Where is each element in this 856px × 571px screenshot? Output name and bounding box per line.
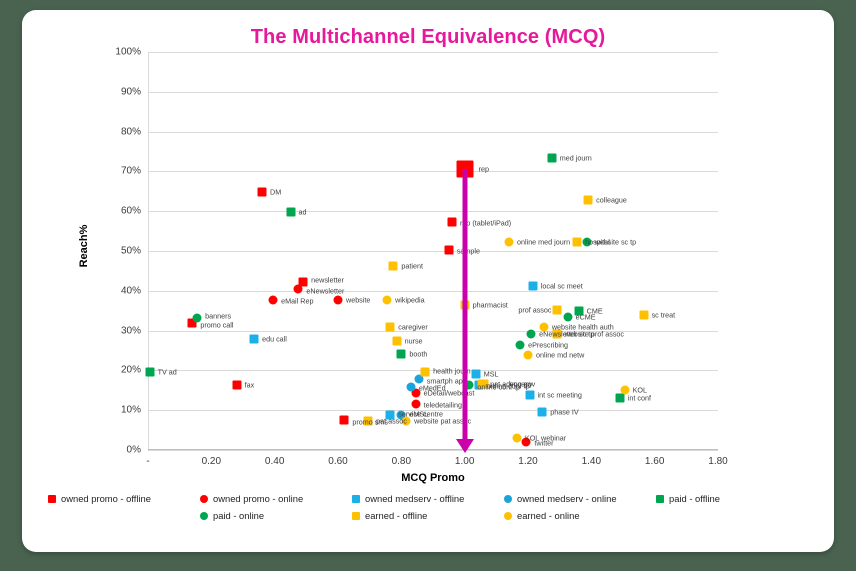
data-point-label: ad [299, 208, 307, 215]
y-axis-tick-label: 30% [121, 325, 141, 336]
legend-marker-icon [200, 512, 208, 520]
data-point[interactable] [411, 399, 420, 408]
gridline [148, 211, 718, 212]
data-point-label: booth [409, 350, 427, 357]
x-axis-tick-label: 1.60 [645, 456, 664, 467]
data-point[interactable] [525, 391, 534, 400]
plot-area: 0%10%20%30%40%50%60%70%80%90%100% -0.200… [148, 52, 718, 450]
data-point[interactable] [573, 238, 582, 247]
data-point-label: prof assoc [518, 306, 551, 313]
data-point-label: KOL [633, 386, 647, 393]
data-point-label: DM [270, 189, 281, 196]
gridline [148, 331, 718, 332]
legend-item[interactable]: owned medserv - offline [352, 493, 504, 504]
legend-item[interactable]: paid - online [200, 510, 352, 521]
data-point[interactable] [615, 393, 624, 402]
data-point-label: website [346, 296, 370, 303]
data-point-label: eng gov [510, 380, 536, 387]
data-point-label: TV ad [158, 369, 177, 376]
data-point[interactable] [294, 284, 303, 293]
data-point-label: eMail Rep [281, 297, 313, 304]
data-point-label: wikipedia [395, 296, 425, 303]
data-point-label: int conf [628, 394, 651, 401]
data-point[interactable] [471, 369, 480, 378]
data-point-label: med journ [560, 155, 592, 162]
data-point-label: eMedEd [419, 385, 446, 392]
data-point-label: promo call [200, 322, 233, 329]
data-point[interactable] [389, 262, 398, 271]
data-point-label: rep (tablet/iPad) [460, 220, 511, 227]
x-axis-tick-label: - [146, 456, 149, 467]
data-point[interactable] [386, 323, 395, 332]
data-point-label: banners [205, 312, 231, 319]
data-point-label: website health auth [552, 324, 614, 331]
data-point-label: int sc meeting [538, 391, 582, 398]
legend-item-label: owned medserv - online [517, 493, 617, 504]
legend-item-label: owned medserv - offline [365, 493, 464, 504]
legend-item-label: paid - online [213, 510, 264, 521]
y-axis-tick-label: 50% [121, 246, 141, 257]
y-axis-label: Reach% [78, 225, 90, 268]
data-point-label: fax [245, 382, 255, 389]
legend-item[interactable]: owned promo - offline [48, 493, 200, 504]
data-point-label: colleague [596, 196, 627, 203]
gridline [148, 92, 718, 93]
data-point-label: teledetailing [424, 401, 462, 408]
data-point[interactable] [145, 368, 154, 377]
data-point[interactable] [269, 295, 278, 304]
data-point[interactable] [392, 336, 401, 345]
data-point-label: caregiver [398, 324, 428, 331]
x-axis-tick-label: 1.80 [708, 456, 727, 467]
legend-item-label: earned - offline [365, 510, 427, 521]
data-point[interactable] [516, 341, 525, 350]
data-point[interactable] [232, 381, 241, 390]
data-point-label: online med journ [517, 239, 570, 246]
data-point[interactable] [538, 408, 547, 417]
gridline [148, 52, 718, 53]
legend-marker-icon [352, 495, 360, 503]
legend-marker-icon [504, 512, 512, 520]
x-axis-tick-label: 0.20 [202, 456, 221, 467]
legend-item-label: owned promo - online [213, 493, 303, 504]
y-axis-tick-label: 90% [121, 86, 141, 97]
x-axis-tick-label: 1.40 [582, 456, 601, 467]
gridline [148, 450, 718, 451]
data-point-label: MSL [484, 370, 499, 377]
x-axis-tick-label: 1.00 [455, 456, 474, 467]
y-axis-tick-label: 20% [121, 365, 141, 376]
data-point-label: patient [401, 263, 423, 270]
chart-legend: owned promo - offlineowned promo - onlin… [22, 490, 834, 524]
legend-item[interactable]: paid - offline [656, 493, 808, 504]
chart-card: The Multichannel Equivalence (MCQ) Reach… [22, 10, 834, 552]
legend-item-label: paid - offline [669, 493, 720, 504]
gridline [148, 132, 718, 133]
y-axis-tick-label: 60% [121, 206, 141, 217]
y-axis-tick-label: 100% [115, 47, 141, 58]
annotation-arrow-head [456, 439, 474, 453]
data-point[interactable] [527, 329, 536, 338]
data-point[interactable] [547, 154, 556, 163]
data-point[interactable] [258, 188, 267, 197]
x-axis-tick-label: 1.20 [518, 456, 537, 467]
legend-item[interactable]: earned - online [504, 510, 656, 521]
data-point[interactable] [340, 416, 349, 425]
data-point[interactable] [512, 433, 521, 442]
data-point-label: eNewsletter [306, 287, 344, 294]
data-point[interactable] [639, 311, 648, 320]
data-point[interactable] [406, 383, 415, 392]
x-axis-label: MCQ Promo [148, 472, 718, 484]
legend-item-label: owned promo - offline [61, 493, 151, 504]
legend-marker-icon [656, 495, 664, 503]
gridline [148, 251, 718, 252]
data-point-label: sc treat [652, 312, 676, 319]
legend-marker-icon [200, 495, 208, 503]
annotation-arrow-shaft [462, 169, 467, 440]
data-point-label: eCME [576, 314, 596, 321]
data-point-label: edu call [262, 335, 287, 342]
data-point[interactable] [552, 305, 561, 314]
legend-marker-icon [48, 495, 56, 503]
gridline [148, 171, 718, 172]
y-axis-tick-label: 10% [121, 405, 141, 416]
data-point-label: pharmacist [473, 301, 508, 308]
data-point-label: online md netw [536, 351, 584, 358]
legend-item-label: earned - online [517, 510, 580, 521]
data-point-label: ePrescribing [528, 342, 568, 349]
y-axis-tick-label: 0% [127, 445, 141, 456]
data-point[interactable] [524, 350, 533, 359]
data-point[interactable] [397, 349, 406, 358]
data-point[interactable] [383, 295, 392, 304]
y-axis-tick-label: 40% [121, 285, 141, 296]
data-point[interactable] [250, 334, 259, 343]
data-point[interactable] [528, 282, 537, 291]
page-title: The Multichannel Equivalence (MCQ) [22, 26, 834, 49]
data-point-label: KOL webinar [525, 434, 566, 441]
legend-item[interactable]: earned - offline [352, 510, 504, 521]
data-point[interactable] [334, 295, 343, 304]
legend-item[interactable]: owned promo - online [200, 493, 352, 504]
legend-marker-icon [352, 512, 360, 520]
data-point-label: hospital [585, 239, 610, 246]
data-point-label: rep [479, 166, 489, 173]
gridline [148, 291, 718, 292]
data-point[interactable] [584, 196, 593, 205]
data-point-label: newsletter [311, 276, 344, 283]
x-axis-tick-label: 0.40 [265, 456, 284, 467]
data-point[interactable] [286, 207, 295, 216]
data-point[interactable] [505, 238, 514, 247]
data-point-label: local sc meet [541, 282, 583, 289]
data-point-label: nurse [405, 337, 423, 344]
legend-marker-icon [504, 495, 512, 503]
y-axis-tick-label: 80% [121, 126, 141, 137]
data-point[interactable] [421, 368, 430, 377]
data-point[interactable] [448, 218, 457, 227]
y-axis-tick-label: 70% [121, 166, 141, 177]
x-axis-tick-label: 0.80 [392, 456, 411, 467]
data-point-label: phase IV [550, 409, 578, 416]
legend-item[interactable]: owned medserv - online [504, 493, 656, 504]
data-point[interactable] [444, 246, 453, 255]
data-point[interactable] [563, 313, 572, 322]
data-point-label: pat assoc [376, 417, 407, 424]
x-axis-tick-label: 0.60 [328, 456, 347, 467]
data-point-label: sample [457, 248, 480, 255]
